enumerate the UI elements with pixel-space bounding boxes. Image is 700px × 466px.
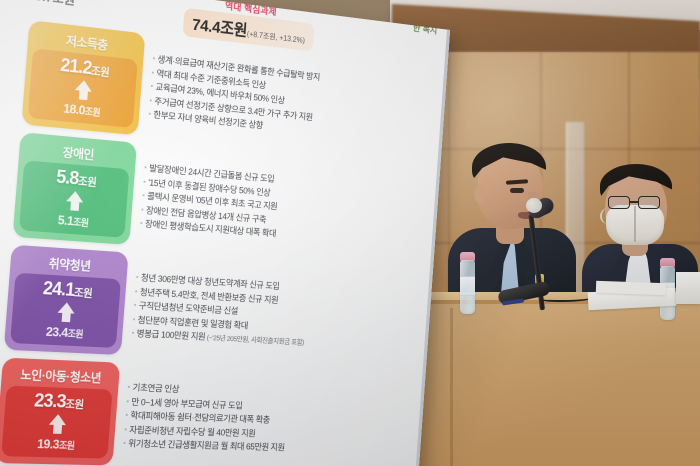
budget-current-number: 21.2 <box>60 55 93 79</box>
increase-arrow-icon <box>49 414 67 425</box>
eyeglasses-icon <box>606 196 664 209</box>
budget-current-value: 24.1조원 <box>42 279 93 301</box>
desk-seam <box>450 308 453 466</box>
bullet-dot-icon: ▪ <box>148 109 151 121</box>
budget-current-number: 5.8 <box>55 167 79 189</box>
bullet-dot-icon: ▪ <box>152 53 155 65</box>
bullet-list: ▪기초연금 인상▪만 0~1세 영아 부모급여 신규 도입▪학대피해아동 쉼터·… <box>122 363 416 466</box>
increase-arrow-icon <box>58 302 76 314</box>
bullet-list: ▪청년 306만명 대상 청년도약계좌 신규 도입▪청년주택 5.4만호, 전세… <box>130 253 423 368</box>
bullet-dot-icon: ▪ <box>141 204 144 216</box>
budget-previous-unit: 조원 <box>67 329 83 341</box>
increase-arrow-stem <box>78 91 87 101</box>
category-title: 장애인 <box>62 142 95 163</box>
category-title: 저소득층 <box>65 30 108 53</box>
budget-previous-unit: 조원 <box>84 107 100 119</box>
bullet-text: 위기청소년 긴급생활지원금 월 최대 65만원 지원 <box>128 439 285 453</box>
bullet-text: 자립준비청년 자립수당 월 40만원 지원 <box>129 425 256 438</box>
nameplate <box>676 272 700 304</box>
budget-figure-box: 21.2조원18.0조원 <box>28 48 138 128</box>
bullet-text-wrap: 자립준비청년 자립수당 월 40만원 지원 <box>129 424 256 440</box>
slide-row: 취약청년24.1조원23.4조원▪청년 306만명 대상 청년도약계좌 신규 도… <box>4 245 423 369</box>
category-card: 노인·아동·청소년23.3조원19.3조원 <box>0 358 120 466</box>
budget-current-value: 5.8조원 <box>56 168 98 190</box>
budget-previous-number: 18.0 <box>63 101 86 118</box>
budget-figure-box: 23.3조원19.3조원 <box>1 386 112 459</box>
budget-previous-number: 23.4 <box>45 324 68 340</box>
budget-current-number: 23.3 <box>33 391 66 413</box>
budget-previous-value: 5.1조원 <box>57 212 89 229</box>
microphone-windscreen <box>526 198 542 213</box>
bullet-subtext: (~'25년 205만원, 사회진출지원금 포함) <box>205 333 304 346</box>
bullet-list: ▪발달장애인 24시간 긴급돌봄 신규 도입▪'15년 이후 동결된 장애수당 … <box>138 144 430 266</box>
budget-current-unit: 조원 <box>91 65 110 79</box>
category-card: 저소득층21.2조원18.0조원 <box>21 20 145 135</box>
budget-current-unit: 조원 <box>78 176 97 189</box>
budget-previous-number: 5.1 <box>57 212 73 228</box>
bullet-dot-icon: ▪ <box>135 272 138 284</box>
header-total-value: 74.4조원 <box>191 15 247 40</box>
budget-previous-value: 23.4조원 <box>45 324 83 341</box>
slide-rows: 저소득층21.2조원18.0조원▪생계·의료급여 재산기준 완화를 통한 수급탈… <box>0 17 438 466</box>
header-total-delta: (+8.7조원, +13.2%) <box>247 30 306 45</box>
bullet-text-wrap: 기초연금 인상 <box>132 382 179 396</box>
bullet-dot-icon: ▪ <box>123 438 126 450</box>
documents <box>596 281 666 295</box>
bullet-dot-icon: ▪ <box>134 286 137 298</box>
bullet-text: 학대피해아동 쉼터·전담의료기관 대폭 확충 <box>130 411 270 425</box>
budget-current-unit: 조원 <box>65 399 84 411</box>
budget-current-value: 21.2조원 <box>60 56 110 80</box>
bullet-dot-icon: ▪ <box>149 95 152 107</box>
slide-row: 노인·아동·청소년23.3조원19.3조원▪기초연금 인상▪만 0~1세 영아 … <box>0 358 416 466</box>
briefing-room-scene: 5.7조원 역대 핵심과제 74.4조원(+8.7조원, +13.2%) 한 복… <box>0 0 700 466</box>
bullet-dot-icon: ▪ <box>143 176 146 188</box>
bullet-dot-icon: ▪ <box>125 410 128 422</box>
category-title: 취약청년 <box>48 253 91 274</box>
budget-figure-box: 24.1조원23.4조원 <box>10 273 121 348</box>
ear <box>474 185 486 203</box>
bullet-text: 기초연금 인상 <box>132 383 179 394</box>
budget-previous-unit: 조원 <box>58 441 74 452</box>
bullet-text-wrap: 만 0~1세 영아 부모급여 신규 도입 <box>131 396 243 412</box>
budget-figure-box: 5.8조원5.1조원 <box>19 160 130 238</box>
increase-arrow-icon <box>66 190 84 202</box>
bottle-label <box>460 276 475 296</box>
mask-fold <box>634 206 636 242</box>
desk-front-panel <box>392 300 700 466</box>
category-title: 노인·아동·청소년 <box>20 364 102 386</box>
bullet-dot-icon: ▪ <box>140 218 143 230</box>
bullet-dot-icon: ▪ <box>151 67 154 79</box>
header-left-total: 5.7조원 <box>35 0 76 9</box>
budget-current-number: 24.1 <box>42 278 75 300</box>
bullet-dot-icon: ▪ <box>142 190 145 202</box>
increase-arrow-stem <box>61 313 70 322</box>
budget-previous-number: 19.3 <box>37 436 60 451</box>
presentation-screen: 5.7조원 역대 핵심과제 74.4조원(+8.7조원, +13.2%) 한 복… <box>0 0 450 466</box>
bullet-text-wrap: 위기청소년 긴급생활지원금 월 최대 65만원 지원 <box>128 438 285 454</box>
eye <box>510 188 524 193</box>
bullet-text: 만 0~1세 영아 부모급여 신규 도입 <box>131 397 243 410</box>
bullet-text: 병봉급 100만원 지원 <box>136 329 205 342</box>
bullet-dot-icon: ▪ <box>144 162 147 174</box>
budget-previous-unit: 조원 <box>73 217 89 229</box>
category-card: 장애인5.8조원5.1조원 <box>13 132 137 245</box>
budget-current-unit: 조원 <box>74 287 93 300</box>
bullet-dot-icon: ▪ <box>127 382 130 394</box>
bullet-dot-icon: ▪ <box>131 328 134 340</box>
budget-previous-value: 18.0조원 <box>63 101 101 119</box>
bullet-dot-icon: ▪ <box>124 424 127 436</box>
bullet-dot-icon: ▪ <box>133 300 136 312</box>
budget-current-value: 23.3조원 <box>34 392 85 412</box>
increase-arrow-stem <box>70 202 79 211</box>
bullet-dot-icon: ▪ <box>132 314 135 326</box>
increase-arrow-icon <box>75 79 93 91</box>
bullet-dot-icon: ▪ <box>150 81 153 93</box>
budget-previous-value: 19.3조원 <box>37 436 75 452</box>
category-card: 취약청년24.1조원23.4조원 <box>4 245 129 355</box>
bullet-dot-icon: ▪ <box>126 396 129 408</box>
increase-arrow-stem <box>52 425 61 434</box>
